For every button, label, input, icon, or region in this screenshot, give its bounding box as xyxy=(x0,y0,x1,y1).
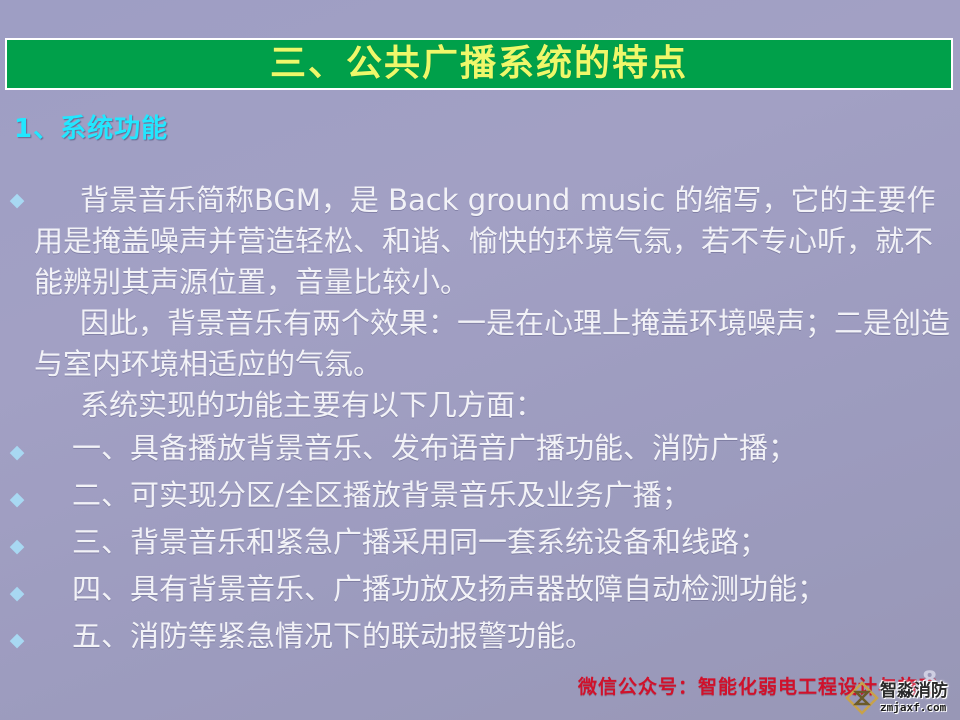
slide-canvas: 三、公共广播系统的特点 1、系统功能 ◆ 背景音乐简称BGM，是 Back gr… xyxy=(0,0,960,720)
diamond-bullet-icon: ◆ xyxy=(0,620,34,661)
list-item: ◆ 五、消防等紧急情况下的联动报警功能。 xyxy=(0,616,960,661)
diamond-bullet-icon: ◆ xyxy=(0,573,34,614)
slide-body: ◆ 背景音乐简称BGM，是 Back ground music 的缩写，它的主要… xyxy=(0,180,960,661)
list-item-label: 四、具有背景音乐、广播功放及扬声器故障自动检测功能； xyxy=(34,569,960,610)
paragraph-text: 因此，背景音乐有两个效果：一是在心理上掩盖环境噪声；二是创造与室内环境相适应的气… xyxy=(34,303,960,385)
list-item: ◆ 三、背景音乐和紧急广播采用同一套系统设备和线路； xyxy=(0,522,960,567)
list-item: ◆ 四、具有背景音乐、广播功放及扬声器故障自动检测功能； xyxy=(0,569,960,614)
paragraph-row: ◆ 背景音乐简称BGM，是 Back ground music 的缩写，它的主要… xyxy=(0,180,960,303)
paragraph-text: 背景音乐简称BGM，是 Back ground music 的缩写，它的主要作用… xyxy=(34,180,960,303)
diamond-bullet-icon: ◆ xyxy=(0,180,34,221)
slide-title-banner: 三、公共广播系统的特点 xyxy=(5,38,953,90)
list-item-label: 三、背景音乐和紧急广播采用同一套系统设备和线路； xyxy=(34,522,960,563)
list-item-label: 一、具备播放背景音乐、发布语音广播功能、消防广播； xyxy=(34,428,960,469)
list-item-label: 五、消防等紧急情况下的联动报警功能。 xyxy=(34,616,960,657)
section-subtitle: 1、系统功能 xyxy=(14,108,168,145)
paragraph-text: 系统实现的功能主要有以下几方面： xyxy=(34,385,960,426)
watermark-logo-icon xyxy=(845,681,879,715)
watermark: 智淼消防 zmjaxf.com xyxy=(845,676,960,720)
diamond-bullet-icon: ◆ xyxy=(0,526,34,567)
diamond-bullet-icon: ◆ xyxy=(0,479,34,520)
paragraph-row: ◆ 系统实现的功能主要有以下几方面： xyxy=(0,385,960,426)
watermark-text: 智淼消防 zmjaxf.com xyxy=(880,683,948,713)
watermark-name: 智淼消防 xyxy=(880,683,948,700)
paragraph-row: ◆ 因此，背景音乐有两个效果：一是在心理上掩盖环境噪声；二是创造与室内环境相适应… xyxy=(0,303,960,385)
watermark-url: zmjaxf.com xyxy=(880,702,948,713)
diamond-bullet-icon: ◆ xyxy=(0,432,34,473)
list-item: ◆ 一、具备播放背景音乐、发布语音广播功能、消防广播； xyxy=(0,428,960,473)
list-item: ◆ 二、可实现分区/全区播放背景音乐及业务广播； xyxy=(0,475,960,520)
list-item-label: 二、可实现分区/全区播放背景音乐及业务广播； xyxy=(34,475,960,516)
page-title: 三、公共广播系统的特点 xyxy=(270,46,688,82)
